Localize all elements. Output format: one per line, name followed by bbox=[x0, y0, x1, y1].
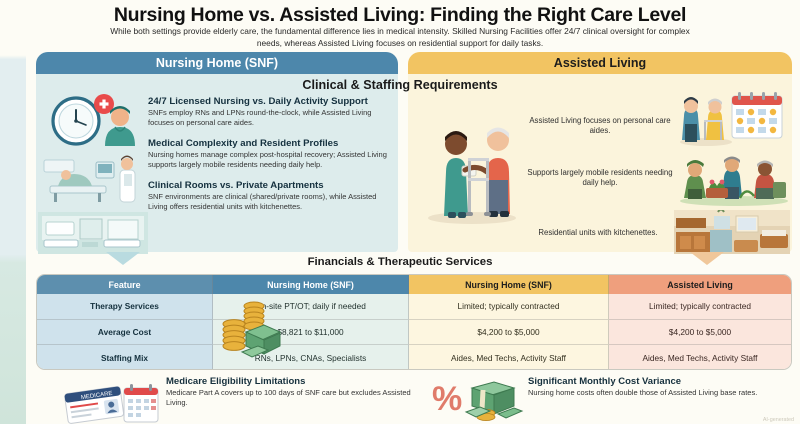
footer-card-cost-variance: % Significant Monthly Cost Variance Nurs… bbox=[418, 374, 792, 424]
coins-and-cash-icon bbox=[214, 296, 284, 362]
clinical-room-illustration bbox=[38, 212, 148, 254]
caregiver-walker-illustration bbox=[424, 96, 520, 226]
page-subtitle: While both settings provide elderly care… bbox=[100, 26, 700, 49]
svg-text:%: % bbox=[432, 380, 462, 418]
table-header-row: Feature Nursing Home (SNF) Nursing Home … bbox=[37, 275, 791, 294]
assisted-living-caption: Assisted Living focuses on personal care… bbox=[520, 116, 680, 136]
bullet-body: SNF environments are clinical (shared/pr… bbox=[148, 192, 394, 211]
bullet-body: SNFs employ RNs and LPNs round-the-clock… bbox=[148, 108, 394, 127]
footer-card-medicare: MEDICARE Medicare Eligibility Limitation… bbox=[36, 374, 412, 424]
hospital-bed-doctor-illustration bbox=[40, 152, 142, 208]
comparison-band-title: Clinical & Staffing Requirements bbox=[0, 78, 800, 92]
footer-card-medicare-text: Medicare Eligibility Limitations Medicar… bbox=[166, 376, 416, 407]
bullet-heading: Clinical Rooms vs. Private Apartments bbox=[148, 180, 394, 191]
right-accent-strip bbox=[792, 0, 800, 424]
table-cell-value: $4,200 to $5,000 bbox=[609, 320, 791, 346]
list-item: 24/7 Licensed Nursing vs. Daily Activity… bbox=[148, 96, 394, 127]
assisted-living-caption: Residential units with kitchenettes. bbox=[508, 228, 688, 238]
list-item: Medical Complexity and Resident Profiles… bbox=[148, 138, 394, 169]
table-row: Therapy Services On-site PT/OT; daily if… bbox=[37, 294, 791, 320]
activity-calendar-illustration bbox=[676, 90, 786, 146]
nursing-home-bullet-list: 24/7 Licensed Nursing vs. Daily Activity… bbox=[148, 96, 394, 223]
table-cell-value: Aides, Med Techs, Activity Staff bbox=[409, 345, 609, 370]
kitchenette-apartment-illustration bbox=[674, 210, 790, 254]
bullet-body: Nursing homes manage complex post-hospit… bbox=[148, 150, 394, 169]
table-cell-feature: Average Cost bbox=[37, 320, 213, 346]
left-accent-strip bbox=[0, 0, 26, 424]
table-cell-feature: Staffing Mix bbox=[37, 345, 213, 370]
page-title: Nursing Home vs. Assisted Living: Findin… bbox=[0, 4, 800, 27]
footer-card-body: Nursing home costs often double those of… bbox=[528, 388, 790, 398]
table-title: Financials & Therapeutic Services bbox=[0, 256, 800, 268]
footer-card-heading: Significant Monthly Cost Variance bbox=[528, 376, 790, 387]
table-cell-value: Limited; typically contracted bbox=[409, 294, 609, 320]
table-column-header-nursing-home-alt: Nursing Home (SNF) bbox=[409, 275, 609, 294]
clock-nurse-illustration bbox=[42, 90, 140, 148]
medicare-card-icon: MEDICARE bbox=[60, 382, 160, 424]
bullet-heading: 24/7 Licensed Nursing vs. Daily Activity… bbox=[148, 96, 394, 107]
footer-card-heading: Medicare Eligibility Limitations bbox=[166, 376, 416, 387]
table-cell-value: $4,200 to $5,000 bbox=[409, 320, 609, 346]
list-item: Clinical Rooms vs. Private Apartments SN… bbox=[148, 180, 394, 211]
cash-stack-icon bbox=[464, 380, 524, 422]
bullet-heading: Medical Complexity and Resident Profiles bbox=[148, 138, 394, 149]
panel-assisted-living-header: Assisted Living bbox=[408, 52, 792, 74]
gardening-seniors-illustration bbox=[678, 152, 790, 206]
footer-card-body: Medicare Part A covers up to 100 days of… bbox=[166, 388, 416, 407]
table-row: Staffing Mix RNs, LPNs, CNAs, Specialist… bbox=[37, 345, 791, 370]
assisted-living-caption: Supports largely mobile residents needin… bbox=[520, 168, 680, 188]
table-cell-value: Limited; typically contracted bbox=[609, 294, 791, 320]
table-column-header-nursing-home: Nursing Home (SNF) bbox=[213, 275, 409, 294]
table-column-header-feature: Feature bbox=[37, 275, 213, 294]
panel-nursing-home-header: Nursing Home (SNF) bbox=[36, 52, 398, 74]
table-cell-value: Aides, Med Techs, Activity Staff bbox=[609, 345, 791, 370]
footer-card-cost-text: Significant Monthly Cost Variance Nursin… bbox=[528, 376, 790, 398]
comparison-table: Feature Nursing Home (SNF) Nursing Home … bbox=[36, 274, 792, 370]
table-row: Average Cost $8,821 to $11,000 $4,200 to… bbox=[37, 320, 791, 346]
table-column-header-assisted-living: Assisted Living bbox=[609, 275, 791, 294]
table-cell-feature: Therapy Services bbox=[37, 294, 213, 320]
watermark: AI-generated bbox=[763, 417, 794, 423]
